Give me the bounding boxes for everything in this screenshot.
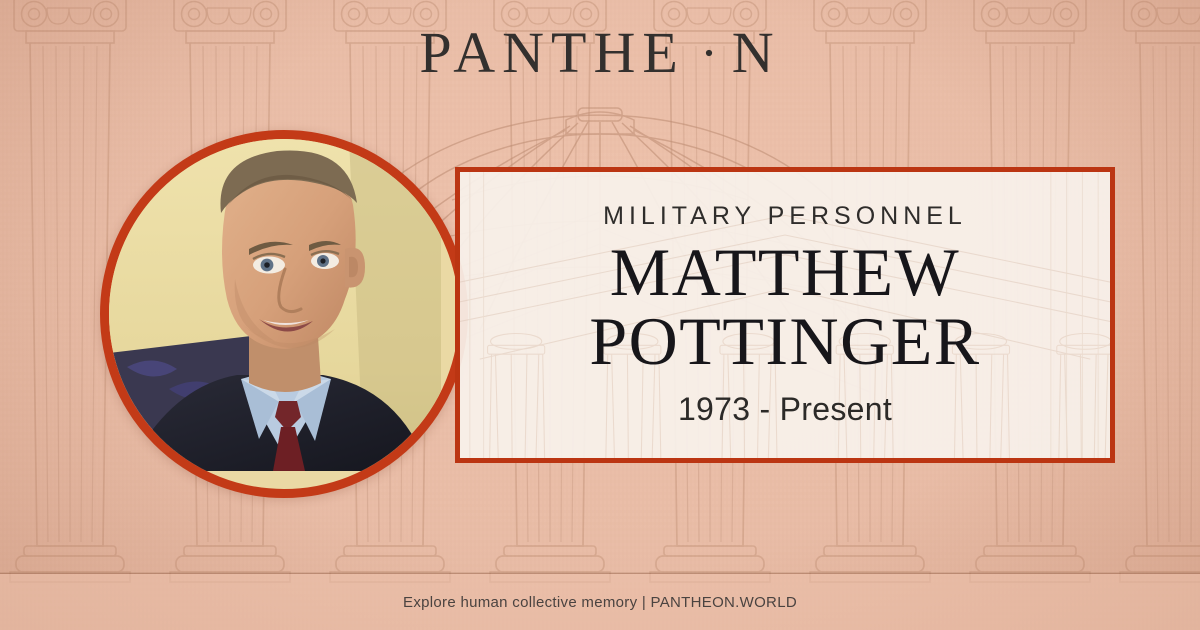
oculus-dot-icon [687, 31, 731, 75]
logo-text-before: PANTHE [419, 24, 684, 82]
pantheon-social-card: PANTHEN [0, 0, 1200, 630]
person-name-line1: MATTHEW [460, 239, 1110, 306]
footer-tagline[interactable]: Explore human collective memory | PANTHE… [0, 594, 1200, 611]
pantheon-logo[interactable]: PANTHEN [0, 24, 1200, 82]
category-label: MILITARY PERSONNEL [460, 202, 1110, 231]
footer-divider [0, 573, 1200, 574]
logo-text-after: N [732, 24, 781, 82]
person-info-card: MILITARY PERSONNEL MATTHEW POTTINGER 197… [455, 167, 1115, 463]
person-lifespan: 1973 - Present [460, 391, 1110, 428]
person-name-line2: POTTINGER [460, 308, 1110, 375]
portrait-photo [109, 139, 441, 471]
portrait-avatar[interactable] [100, 130, 468, 498]
